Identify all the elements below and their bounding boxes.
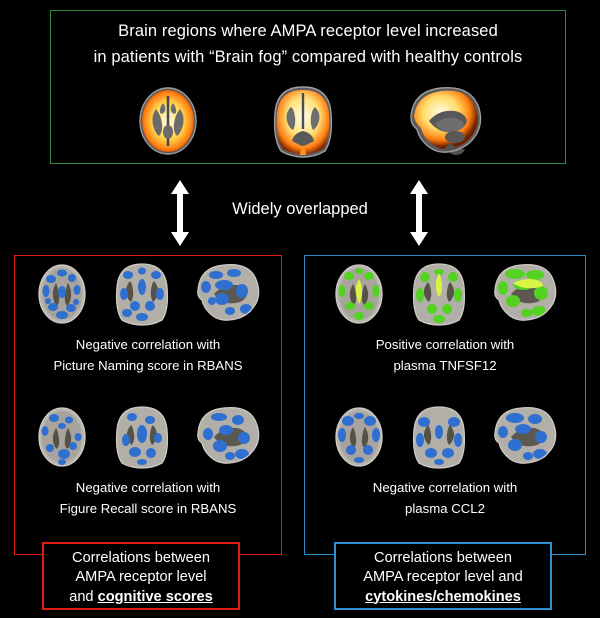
brain-axial-hot <box>125 83 211 159</box>
top-brain-image-row <box>51 83 565 159</box>
brain-sagittal-blue-2 <box>186 404 270 470</box>
right-caption-2-line-1: Negative correlation with <box>305 477 585 498</box>
brain-sagittal-blue-4 <box>483 404 567 470</box>
summary-left-line-1: Correlations between <box>50 549 232 568</box>
sagittal-view-icon <box>483 404 567 470</box>
axial-view-icon <box>323 261 395 327</box>
right-caption-1-line-1: Positive correlation with <box>305 334 585 355</box>
left-caption-1: Negative correlation with Picture Naming… <box>15 334 281 377</box>
brain-axial-blue-1 <box>26 261 98 327</box>
coronal-view-icon <box>257 83 349 159</box>
top-title-line-1: Brain regions where AMPA receptor level … <box>51 19 565 45</box>
right-panel-cytokines: Positive correlation with plasma TNFSF12 <box>304 255 586 555</box>
brain-coronal-blue-1 <box>102 261 182 327</box>
summary-box-cytokines: Correlations between AMPA receptor level… <box>334 542 552 610</box>
brain-coronal-green-1 <box>399 261 479 327</box>
right-brain-row-2 <box>305 404 585 470</box>
left-caption-2: Negative correlation with Figure Recall … <box>15 477 281 520</box>
brain-sagittal-green-1 <box>483 261 567 327</box>
summary-box-cognitive: Correlations between AMPA receptor level… <box>42 542 240 610</box>
summary-left-emphasis: cognitive scores <box>98 589 213 605</box>
right-caption-2: Negative correlation with plasma CCL2 <box>305 477 585 520</box>
axial-view-icon <box>26 404 98 470</box>
brain-axial-blue-2 <box>26 404 98 470</box>
sagittal-view-icon <box>186 404 270 470</box>
top-panel-ampa-increase: Brain regions where AMPA receptor level … <box>50 10 566 164</box>
brain-sagittal-blue-1 <box>186 261 270 327</box>
right-caption-2-line-2: plasma CCL2 <box>305 498 585 519</box>
top-title-line-2: in patients with “Brain fog” compared wi… <box>51 45 565 71</box>
left-caption-1-line-2: Picture Naming score in RBANS <box>15 355 281 376</box>
summary-right-line-3: cytokines/chemokines <box>342 588 544 607</box>
brain-axial-blue-3 <box>323 404 395 470</box>
widely-overlapped-label: Widely overlapped <box>0 200 600 219</box>
right-brain-row-1 <box>305 261 585 327</box>
left-panel-cognitive: Negative correlation with Picture Naming… <box>14 255 282 555</box>
left-caption-2-line-2: Figure Recall score in RBANS <box>15 498 281 519</box>
left-caption-2-line-1: Negative correlation with <box>15 477 281 498</box>
sagittal-view-icon <box>395 83 491 159</box>
summary-left-line-3: and cognitive scores <box>50 588 232 607</box>
brain-coronal-hot <box>257 83 349 159</box>
brain-coronal-blue-4 <box>399 404 479 470</box>
summary-right-line-2: AMPA receptor level and <box>342 568 544 587</box>
left-brain-row-2 <box>15 404 281 470</box>
axial-view-icon <box>323 404 395 470</box>
axial-view-icon <box>26 261 98 327</box>
right-caption-1-line-2: plasma TNFSF12 <box>305 355 585 376</box>
coronal-view-icon <box>102 261 182 327</box>
summary-left-line-2: AMPA receptor level <box>50 568 232 587</box>
left-caption-1-line-1: Negative correlation with <box>15 334 281 355</box>
coronal-view-icon <box>399 261 479 327</box>
sagittal-view-icon <box>483 261 567 327</box>
brain-axial-green-1 <box>323 261 395 327</box>
summary-right-emphasis: cytokines/chemokines <box>365 589 521 605</box>
right-caption-1: Positive correlation with plasma TNFSF12 <box>305 334 585 377</box>
coronal-view-icon <box>399 404 479 470</box>
brain-coronal-blue-2 <box>102 404 182 470</box>
coronal-view-icon <box>102 404 182 470</box>
figure-root: Brain regions where AMPA receptor level … <box>0 0 600 618</box>
summary-left-line-3-plain: and <box>69 589 97 605</box>
sagittal-view-icon <box>186 261 270 327</box>
brain-sagittal-hot <box>395 83 491 159</box>
summary-right-line-1: Correlations between <box>342 549 544 568</box>
top-panel-title: Brain regions where AMPA receptor level … <box>51 19 565 71</box>
axial-view-icon <box>125 83 211 159</box>
left-brain-row-1 <box>15 261 281 327</box>
